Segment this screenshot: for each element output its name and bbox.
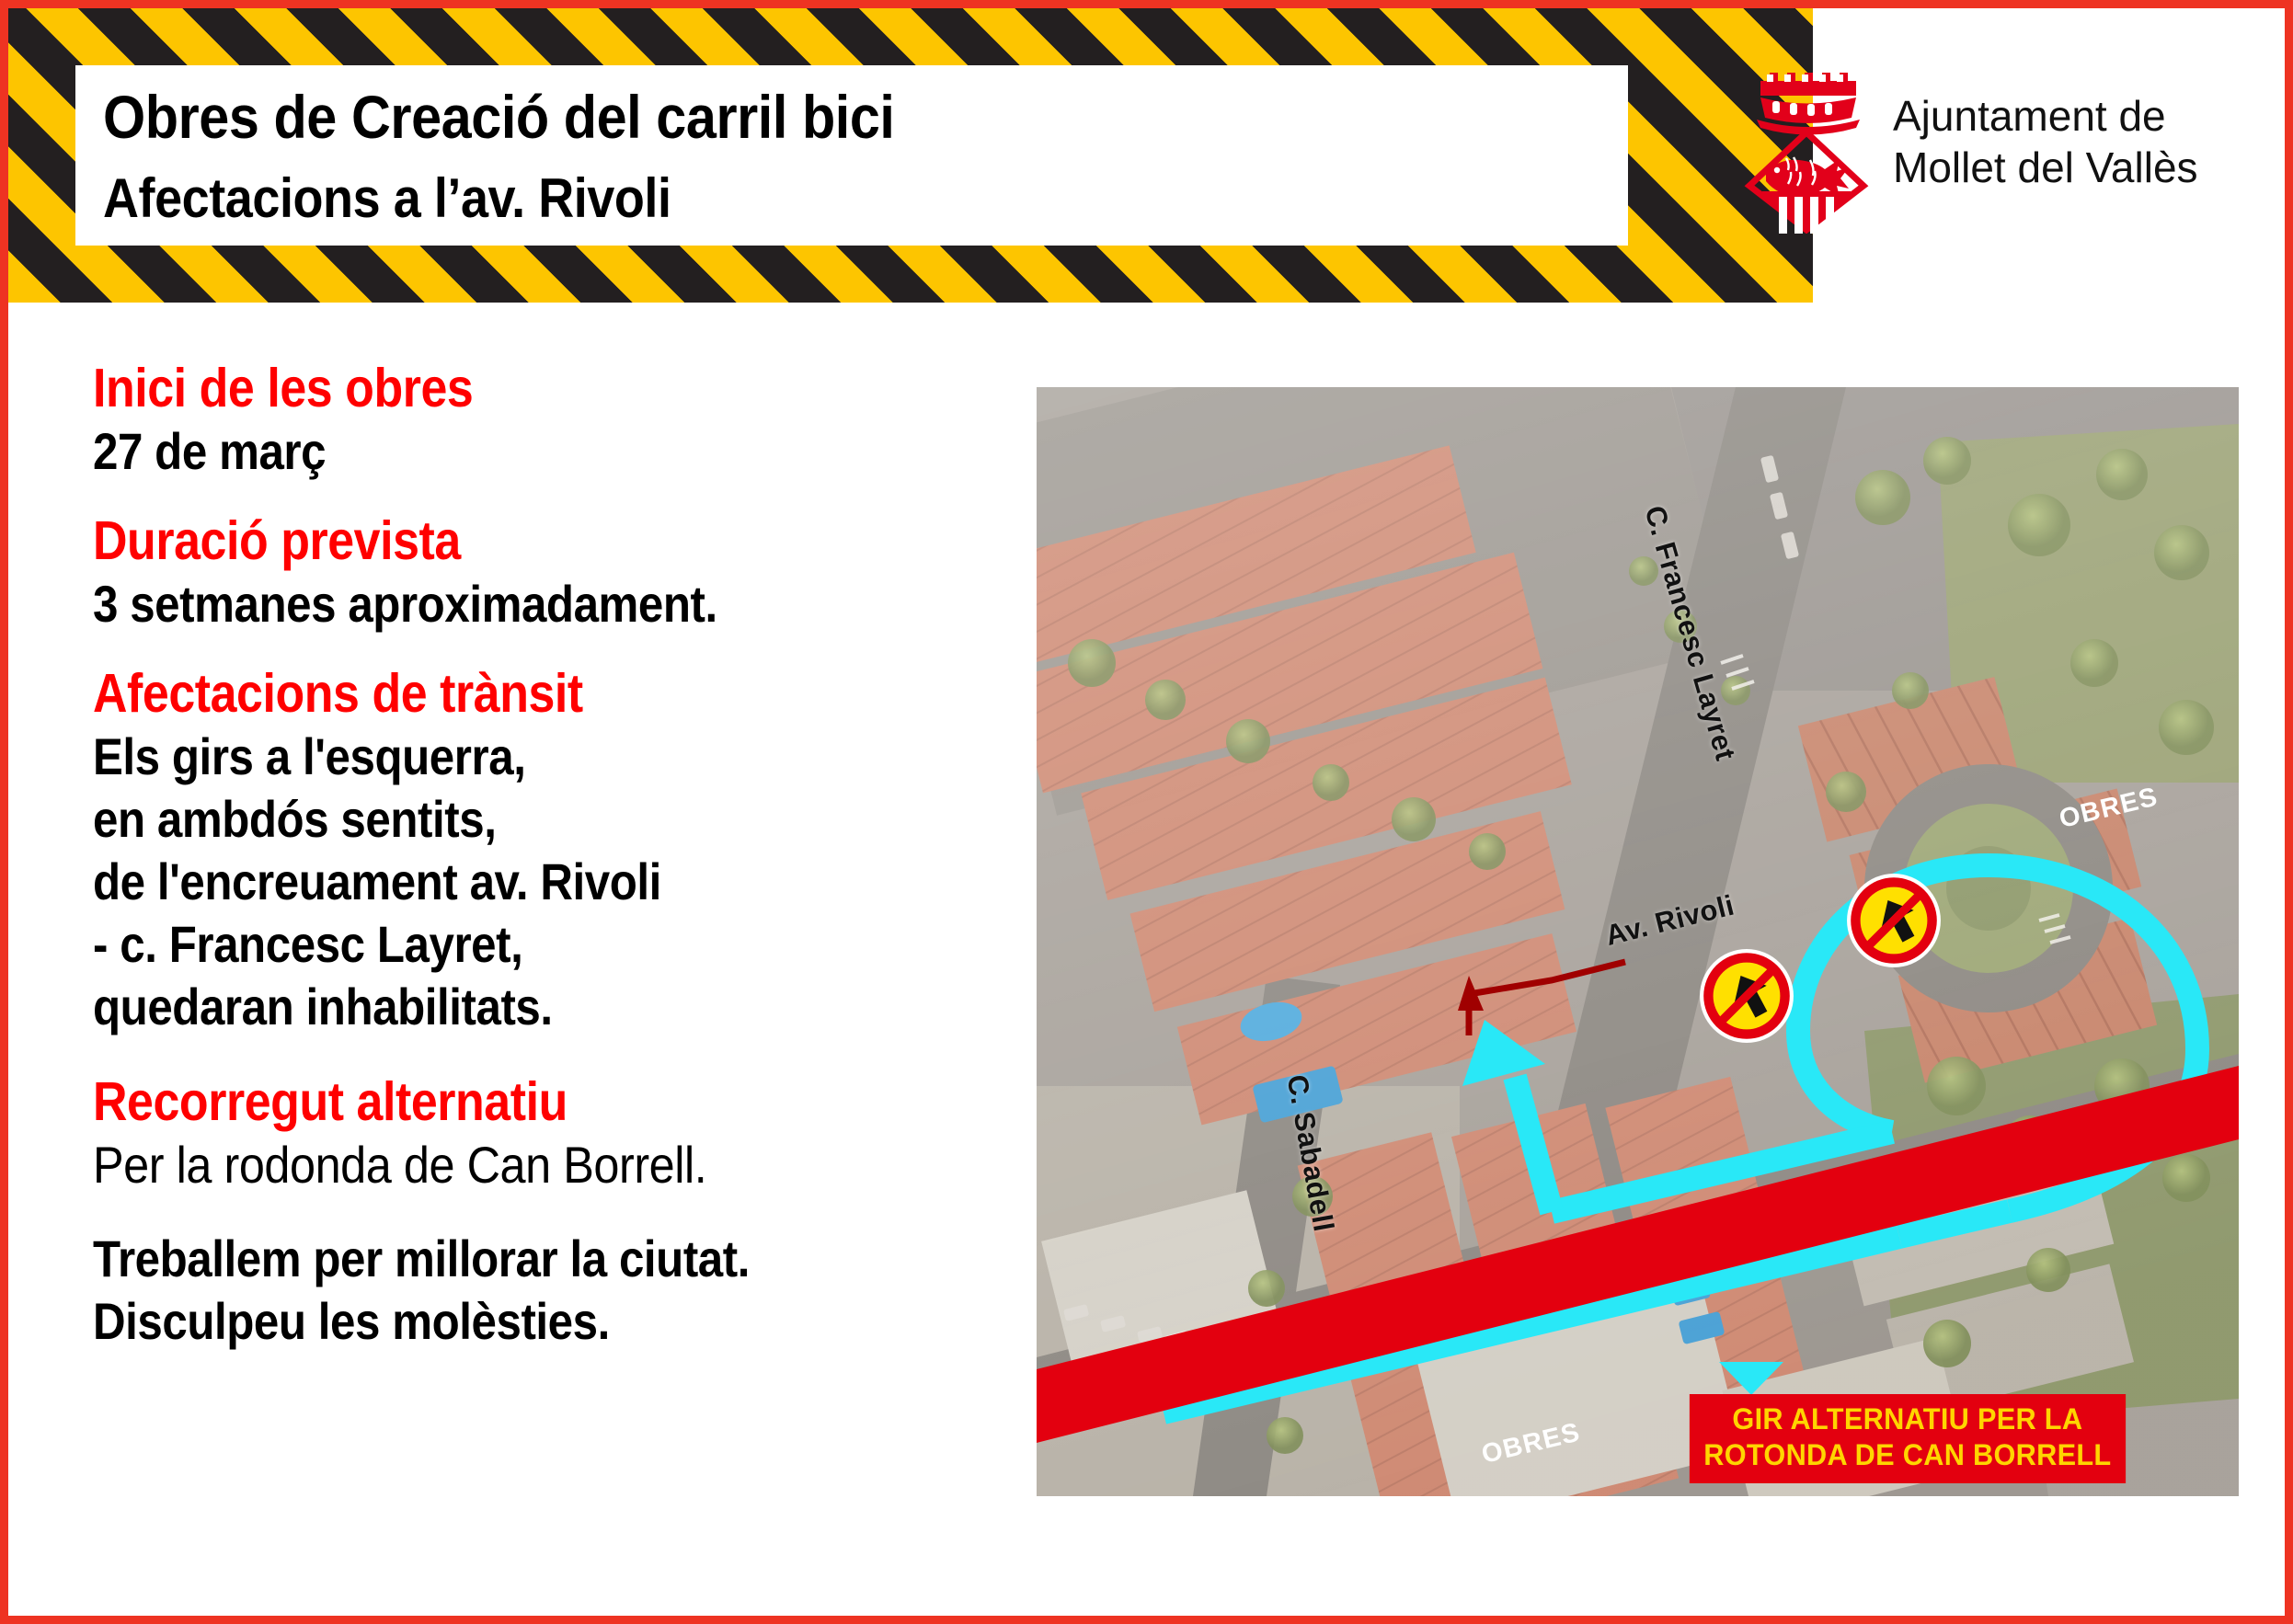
info-block-afectacions: Afectacions de trànsit Els girs a l'esqu… <box>93 661 1022 1038</box>
heading-duracio: Duració prevista <box>93 509 911 573</box>
aerial-map[interactable]: C. Francesc Layret Av. Rivoli C. Sabadel… <box>1037 387 2239 1496</box>
info-block-duracio: Duració prevista 3 setmanes aproximadame… <box>93 509 1022 635</box>
afectacions-line-3: de l'encreuament av. Rivoli <box>93 851 911 913</box>
afectacions-line-1: Els girs a l'esquerra, <box>93 726 911 788</box>
heading-recorregut: Recorregut alternatiu <box>93 1069 911 1134</box>
afectacions-line-5: quedaran inhabilitats. <box>93 976 911 1038</box>
value-duracio: 3 setmanes aproximadament. <box>93 573 911 635</box>
title-box: Obres de Creació del carril bici Afectac… <box>75 65 1628 246</box>
hazard-stripe-banner: Obres de Creació del carril bici Afectac… <box>8 8 1813 303</box>
info-block-closing: Treballem per millorar la ciutat. Discul… <box>93 1228 1022 1353</box>
page-subtitle: Afectacions a l’av. Rivoli <box>103 161 1475 236</box>
mollet-coat-of-arms-icon <box>1742 50 1871 234</box>
ajuntament-logo: Ajuntament de Mollet del Vallès <box>1742 36 2257 247</box>
heading-afectacions: Afectacions de trànsit <box>93 661 911 726</box>
info-column: Inici de les obres 27 de març Duració pr… <box>93 356 1022 1378</box>
callout-gir-alternatiu: GIR ALTERNATIU PER LA ROTONDA DE CAN BOR… <box>1690 1394 2126 1483</box>
callout-gir-line-2: ROTONDA DE CAN BORRELL <box>1703 1437 2111 1473</box>
value-recorregut: Per la rodonda de Can Borrell. <box>93 1134 929 1196</box>
no-left-turn-icon-upper <box>1846 873 1942 968</box>
callout-gir-line-1: GIR ALTERNATIU PER LA <box>1703 1401 2111 1437</box>
info-block-inici: Inici de les obres 27 de març <box>93 356 1022 483</box>
logo-line-2: Mollet del Vallès <box>1893 142 2198 193</box>
detour-arrow-head-south <box>1719 1362 1783 1395</box>
value-inici: 27 de març <box>93 420 911 483</box>
closing-line-1: Treballem per millorar la ciutat. <box>93 1228 911 1290</box>
afectacions-line-2: en ambdós sentits, <box>93 788 911 851</box>
logo-line-1: Ajuntament de <box>1893 90 2198 142</box>
no-left-turn-icon-lower <box>1699 948 1794 1044</box>
page-title: Obres de Creació del carril bici <box>103 73 1475 161</box>
works-band <box>1037 870 2239 1447</box>
works-direction-arrow <box>1458 962 1625 1035</box>
closing-line-2: Disculpeu les molèsties. <box>93 1290 911 1353</box>
info-block-recorregut: Recorregut alternatiu Per la rodonda de … <box>93 1069 1022 1196</box>
ajuntament-logo-text: Ajuntament de Mollet del Vallès <box>1893 90 2198 193</box>
detour-arrow-head-layret <box>1462 1020 1545 1086</box>
poster-page: Obres de Creació del carril bici Afectac… <box>0 0 2293 1624</box>
heading-inici: Inici de les obres <box>93 356 911 420</box>
afectacions-line-4: - c. Francesc Layret, <box>93 913 911 976</box>
